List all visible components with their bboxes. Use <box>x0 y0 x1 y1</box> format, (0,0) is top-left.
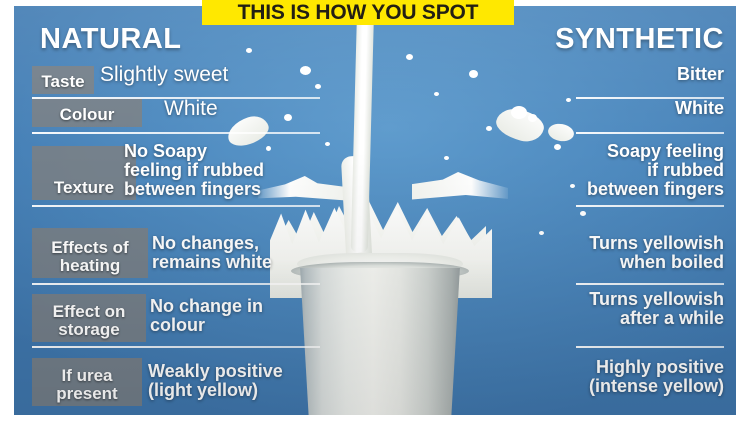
milk-droplet <box>315 84 321 89</box>
milk-droplet <box>486 126 492 131</box>
row-divider <box>576 205 724 207</box>
milk-splash-blob-right-small <box>547 122 576 143</box>
milk-crown-arm-left <box>258 176 348 204</box>
milk-droplet <box>284 114 292 121</box>
column-heading-synthetic: SYNTHETIC <box>555 23 724 56</box>
row-value-synthetic-colour: White <box>675 99 724 118</box>
row-value-natural-texture: No Soapyfeeling if rubbedbetween fingers <box>124 142 264 199</box>
row-value-natural-if-urea-present: Weakly positive(light yellow) <box>148 362 283 400</box>
headline-banner: THIS IS HOW YOU SPOT <box>202 0 514 25</box>
row-label-if-urea-present: If ureapresent <box>32 358 142 406</box>
row-label-effects-of-heating: Effects ofheating <box>32 228 148 278</box>
row-divider <box>32 205 320 207</box>
milk-droplet <box>406 54 413 60</box>
row-divider <box>576 346 724 348</box>
milk-droplet <box>325 142 330 146</box>
milk-droplet <box>434 92 439 96</box>
row-value-natural-effects-of-heating: No changes,remains white <box>152 234 272 272</box>
row-value-synthetic-taste: Bitter <box>677 65 724 84</box>
comparison-panel: NATURAL SYNTHETIC Taste Slightly sweet B… <box>14 6 736 415</box>
milk-droplet <box>570 184 575 188</box>
milk-droplet <box>266 146 271 151</box>
column-heading-natural: NATURAL <box>40 23 182 56</box>
milk-droplet <box>554 144 561 150</box>
row-value-synthetic-texture: Soapy feelingif rubbedbetween fingers <box>587 142 724 199</box>
row-label-colour: Colour <box>32 99 142 127</box>
row-value-natural-effect-on-storage: No change incolour <box>150 297 263 335</box>
row-label-texture: Texture <box>32 146 136 200</box>
milk-glass <box>295 268 465 415</box>
row-value-natural-taste: Slightly sweet <box>100 65 228 84</box>
row-value-natural-colour: White <box>164 99 218 118</box>
milk-crown-arm-right <box>412 172 508 204</box>
row-divider <box>32 346 320 348</box>
milk-droplet <box>539 231 544 235</box>
milk-droplet <box>469 70 478 78</box>
headline-banner-text: THIS IS HOW YOU SPOT <box>238 1 479 25</box>
row-value-synthetic-effect-on-storage: Turns yellowishafter a while <box>589 290 724 328</box>
milk-droplet <box>444 156 449 160</box>
milk-droplet <box>300 66 311 75</box>
row-divider <box>32 132 320 134</box>
row-label-effect-on-storage: Effect onstorage <box>32 294 146 342</box>
row-divider <box>32 283 320 285</box>
milk-droplet <box>528 114 537 122</box>
milk-droplet <box>566 98 571 102</box>
row-divider <box>576 132 724 134</box>
row-divider <box>576 283 724 285</box>
infographic-root: NATURAL SYNTHETIC Taste Slightly sweet B… <box>0 0 748 421</box>
row-value-synthetic-if-urea-present: Highly positive(intense yellow) <box>589 358 724 396</box>
milk-droplet <box>580 211 586 216</box>
row-value-synthetic-effects-of-heating: Turns yellowishwhen boiled <box>589 234 724 272</box>
row-label-taste: Taste <box>32 66 94 94</box>
milk-droplet <box>511 106 527 119</box>
milk-droplet <box>246 48 252 53</box>
